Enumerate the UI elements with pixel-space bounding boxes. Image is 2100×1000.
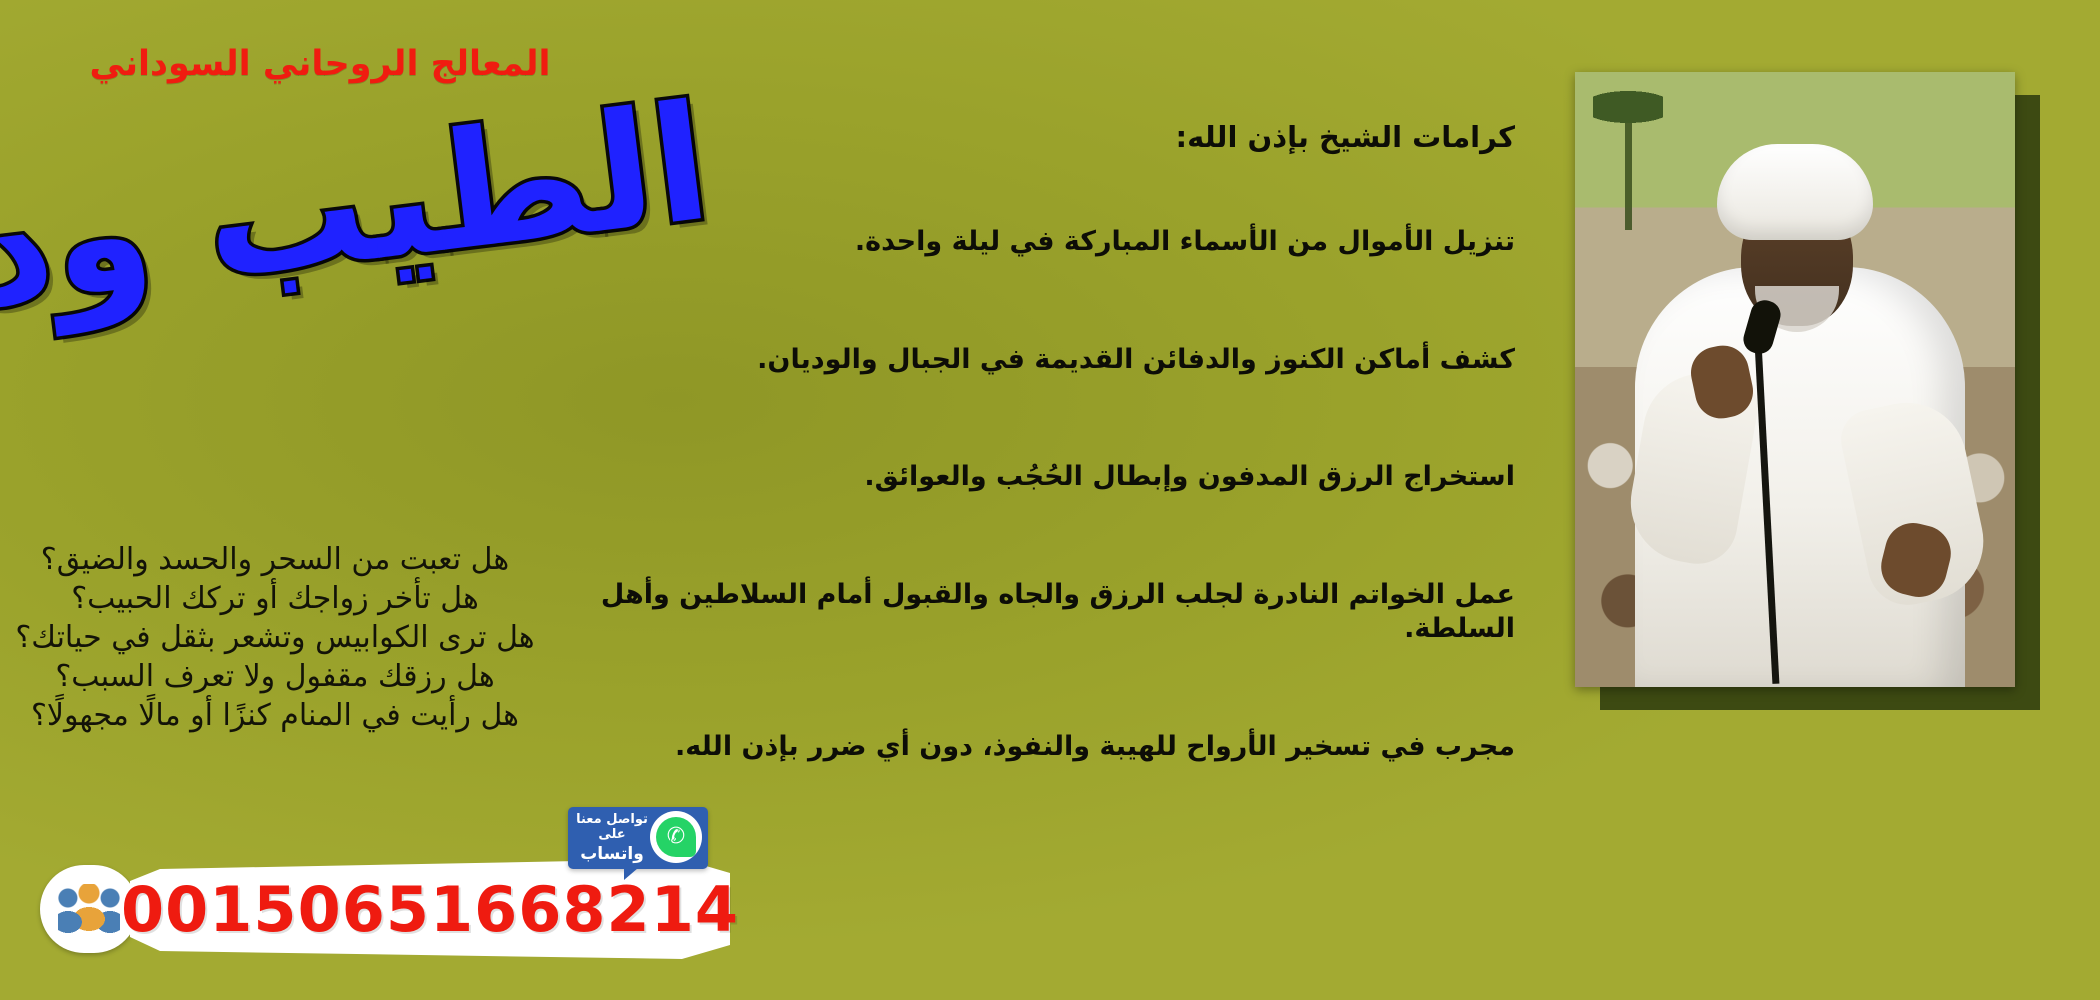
contact-bar[interactable]: 00150651668214 تواصل معنا على واتساب ✆ bbox=[30, 855, 730, 965]
service-item: استخراج الرزق المدفون وإبطال الحُجُب وال… bbox=[505, 460, 1515, 494]
phone-number[interactable]: 00150651668214 bbox=[160, 867, 700, 951]
sheikh-turban bbox=[1717, 144, 1873, 240]
whatsapp-label-bottom: واتساب bbox=[574, 845, 650, 865]
palm-tree-icon bbox=[1593, 80, 1663, 230]
question-line: هل رأيت في المنام كنزًا أو مالًا مجهولًا… bbox=[10, 696, 540, 735]
question-line: هل تعبت من السحر والحسد والضيق؟ bbox=[10, 540, 540, 579]
whatsapp-button[interactable]: تواصل معنا على واتساب ✆ bbox=[568, 807, 708, 869]
service-item: عمل الخواتم النادرة لجلب الرزق والجاه وا… bbox=[505, 578, 1515, 646]
sheikh-photo bbox=[1575, 72, 2015, 687]
whatsapp-label-top: تواصل معنا على bbox=[576, 812, 648, 842]
whatsapp-icon-circle: ✆ bbox=[650, 811, 702, 863]
services-heading: كرامات الشيخ بإذن الله: bbox=[505, 120, 1515, 155]
people-group-icon bbox=[58, 884, 120, 934]
whatsapp-bubble-tail bbox=[624, 868, 638, 880]
services-block: كرامات الشيخ بإذن الله: تنزيل الأموال من… bbox=[505, 120, 1515, 763]
service-item: تنزيل الأموال من الأسماء المباركة في ليل… bbox=[505, 225, 1515, 259]
questions-block: هل تعبت من السحر والحسد والضيق؟ هل تأخر … bbox=[10, 540, 540, 735]
question-line: هل رزقك مقفول ولا تعرف السبب؟ bbox=[10, 657, 540, 696]
whatsapp-label: تواصل معنا على واتساب bbox=[574, 813, 650, 864]
service-item: مجرب في تسخير الأرواح للهيبة والنفوذ، دو… bbox=[505, 730, 1515, 764]
whatsapp-icon: ✆ bbox=[656, 817, 696, 857]
question-line: هل ترى الكوابيس وتشعر بثقل في حياتك؟ bbox=[10, 618, 540, 657]
services-list: تنزيل الأموال من الأسماء المباركة في ليل… bbox=[505, 225, 1515, 764]
advertisement-banner: المعالج الروحاني السوداني الطيب ود النور… bbox=[0, 0, 2100, 1000]
page-subtitle-red: المعالج الروحاني السوداني bbox=[0, 44, 640, 84]
service-item: كشف أماكن الكنوز والدفائن القديمة في الج… bbox=[505, 343, 1515, 377]
question-line: هل تأخر زواجك أو تركك الحبيب؟ bbox=[10, 579, 540, 618]
